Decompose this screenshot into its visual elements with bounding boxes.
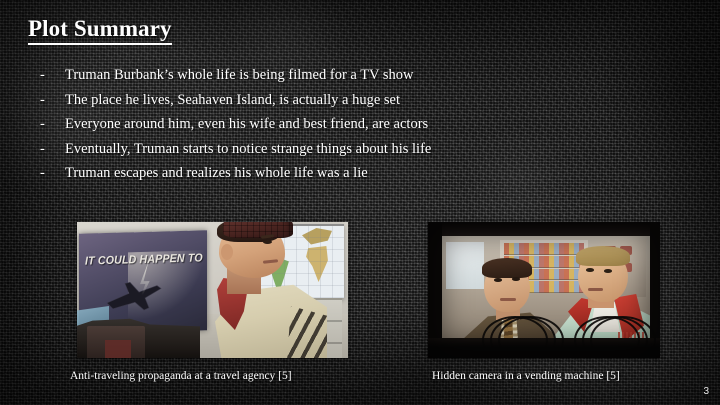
list-item-label: The place he lives, Seahaven Island, is … — [65, 91, 400, 110]
bullet-list: - Truman Burbank’s whole life is being f… — [40, 66, 640, 189]
presentation-slide: Plot Summary - Truman Burbank’s whole li… — [0, 0, 720, 405]
figure-caption-vending-machine: Hidden camera in a vending machine [5] — [432, 370, 620, 382]
page-title-text: Plot Summary — [28, 16, 172, 41]
slide-number: 3 — [703, 386, 709, 397]
list-item-label: Everyone around him, even his wife and b… — [65, 115, 428, 134]
list-item-label: Eventually, Truman starts to notice stra… — [65, 140, 431, 159]
figure-caption-travel-agency: Anti-traveling propaganda at a travel ag… — [70, 370, 292, 382]
list-item: - Eventually, Truman starts to notice st… — [40, 140, 640, 159]
figure-image-vending-machine — [428, 222, 660, 358]
bullet-marker: - — [40, 115, 65, 134]
vending-machine-vignette — [428, 222, 660, 358]
truman-eye — [263, 240, 272, 244]
bullet-marker: - — [40, 164, 65, 183]
list-item: - Truman escapes and realizes his whole … — [40, 164, 640, 183]
list-item: - Truman Burbank’s whole life is being f… — [40, 66, 640, 85]
page-title: Plot Summary — [28, 16, 172, 45]
bullet-marker: - — [40, 66, 65, 85]
poster-airplane-graphic — [103, 279, 165, 315]
list-item-label: Truman Burbank’s whole life is being fil… — [65, 66, 414, 85]
figure-image-travel-agency: IT COULD HAPPEN TO — [77, 222, 348, 358]
list-item: - The place he lives, Seahaven Island, i… — [40, 91, 640, 110]
cap-plaid-pattern — [223, 222, 293, 238]
truman-plaid-cap — [223, 222, 293, 238]
truman-ear — [221, 244, 233, 260]
list-item: - Everyone around him, even his wife and… — [40, 115, 640, 134]
page-title-underline — [28, 43, 172, 45]
list-item-label: Truman escapes and realizes his whole li… — [65, 164, 368, 183]
agency-desk-object — [105, 340, 131, 358]
bullet-marker: - — [40, 140, 65, 159]
bullet-marker: - — [40, 91, 65, 110]
